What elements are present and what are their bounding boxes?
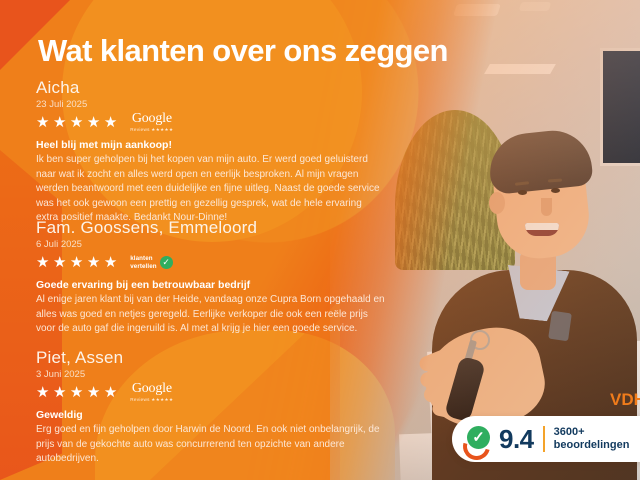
checkmark-circle-icon: ✓	[160, 256, 173, 269]
review-headline: Goede ervaring bij een betrouwbaar bedri…	[36, 278, 386, 292]
star-icon: ★	[87, 255, 100, 270]
green-check-circle: ✓	[467, 426, 490, 449]
check-glyph: ✓	[472, 430, 485, 445]
review-card-1: Aicha 23 Juli 2025 ★ ★ ★ ★ ★ Google Revi…	[36, 78, 386, 226]
klantenvertellen-label-line2: vertellen	[130, 263, 156, 270]
star-icon: ★	[53, 385, 66, 400]
star-icon: ★	[36, 115, 49, 130]
star-rating: ★ ★ ★ ★ ★	[36, 115, 117, 130]
star-rating: ★ ★ ★ ★ ★	[36, 255, 117, 270]
klantenvertellen-label-line1: klanten	[130, 255, 156, 262]
klantenvertellen-badge: klanten vertellen ✓	[130, 255, 172, 270]
klantenvertellen-check-icon: ✓	[464, 426, 490, 452]
star-icon: ★	[104, 385, 117, 400]
reviewer-name: Fam. Goossens, Emmeloord	[36, 218, 386, 237]
review-body: Erg goed en fijn geholpen door Harwin de…	[36, 423, 386, 467]
page-title: Wat klanten over ons zeggen	[38, 33, 448, 69]
klantenvertellen-label: klanten vertellen	[130, 255, 156, 270]
google-logo-text: Google	[132, 382, 172, 396]
star-icon: ★	[36, 255, 49, 270]
review-body: Al enige jaren klant bij van der Heide, …	[36, 293, 386, 337]
star-icon: ★	[87, 385, 100, 400]
star-icon: ★	[53, 255, 66, 270]
google-logo-text: Google	[132, 112, 172, 126]
star-icon: ★	[70, 255, 83, 270]
reviewer-name: Aicha	[36, 78, 386, 97]
badge-divider	[543, 426, 545, 452]
review-headline: Geweldig	[36, 408, 386, 422]
google-reviews-badge: Google Reviews ★★★★★	[130, 112, 173, 132]
star-icon: ★	[53, 115, 66, 130]
review-date: 6 Juli 2025	[36, 238, 386, 251]
reviewer-name: Piet, Assen	[36, 348, 386, 367]
google-reviews-badge: Google Reviews ★★★★★	[130, 382, 173, 402]
star-icon: ★	[104, 255, 117, 270]
rating-count: 3600+	[554, 426, 630, 439]
rating-score: 9.4	[499, 426, 534, 452]
review-rating-row: ★ ★ ★ ★ ★ klanten vertellen ✓	[36, 254, 386, 271]
review-headline: Heel blij met mijn aankoop!	[36, 138, 386, 152]
content-layer: Wat klanten over ons zeggen Aicha 23 Jul…	[0, 0, 640, 480]
rating-count-label: beoordelingen	[554, 439, 630, 452]
review-body: Ik ben super geholpen bij het kopen van …	[36, 153, 386, 226]
review-date: 3 Juni 2025	[36, 368, 386, 381]
review-rating-row: ★ ★ ★ ★ ★ Google Reviews ★★★★★	[36, 384, 386, 401]
star-icon: ★	[104, 115, 117, 130]
star-icon: ★	[87, 115, 100, 130]
star-icon: ★	[70, 115, 83, 130]
google-reviews-sublabel: Reviews ★★★★★	[130, 398, 173, 403]
banner-root: VDH Wat klanten over ons zeggen Aicha 23…	[0, 0, 640, 480]
review-card-3: Piet, Assen 3 Juni 2025 ★ ★ ★ ★ ★ Google…	[36, 348, 386, 467]
review-card-2: Fam. Goossens, Emmeloord 6 Juli 2025 ★ ★…	[36, 218, 386, 337]
rating-meta: 3600+ beoordelingen	[554, 426, 630, 452]
star-rating: ★ ★ ★ ★ ★	[36, 385, 117, 400]
google-reviews-sublabel: Reviews ★★★★★	[130, 128, 173, 133]
review-date: 23 Juli 2025	[36, 98, 386, 111]
overall-rating-badge[interactable]: ✓ 9.4 3600+ beoordelingen	[452, 416, 640, 462]
star-icon: ★	[36, 385, 49, 400]
star-icon: ★	[70, 385, 83, 400]
review-rating-row: ★ ★ ★ ★ ★ Google Reviews ★★★★★	[36, 114, 386, 131]
